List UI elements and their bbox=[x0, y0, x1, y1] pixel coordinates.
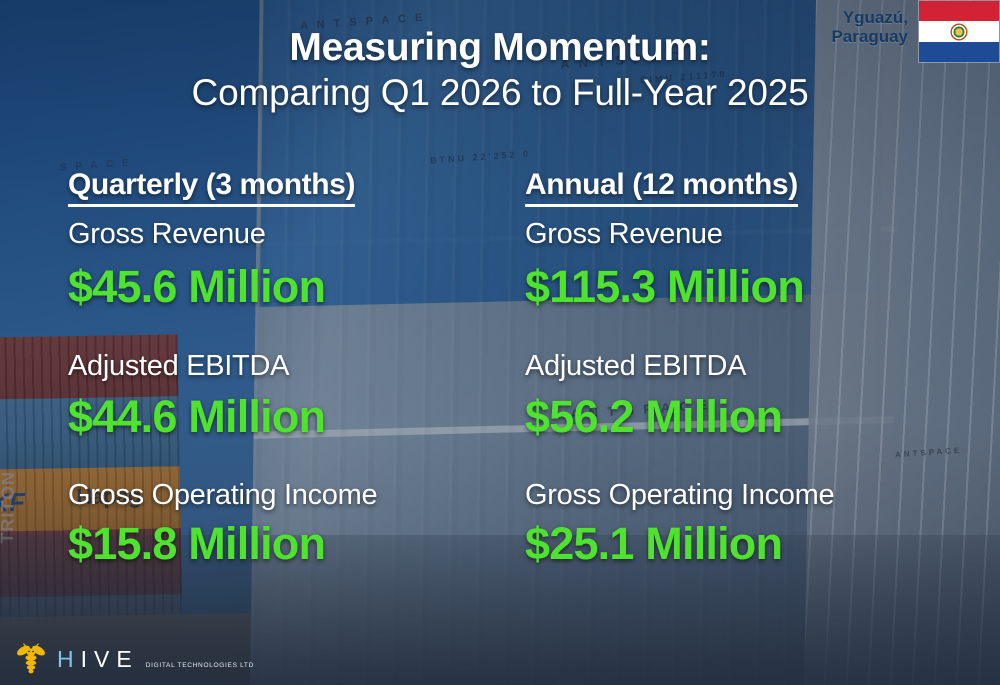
hive-tagline: DIGITAL TECHNOLOGIES LTD bbox=[146, 662, 254, 669]
location-country: Paraguay bbox=[831, 27, 908, 46]
bee-icon bbox=[14, 643, 48, 675]
metric-label-gross-revenue-a: Gross Revenue bbox=[525, 219, 975, 251]
column-heading-annual: Annual (12 months) bbox=[525, 168, 798, 207]
page-subtitle: Comparing Q1 2026 to Full-Year 2025 bbox=[0, 74, 1000, 112]
metric-value-gross-revenue-q: $45.6 Million bbox=[68, 263, 498, 312]
metric-label-adjusted-ebitda-a: Adjusted EBITDA bbox=[525, 351, 975, 383]
metric-label-gross-operating-income-a: Gross Operating Income bbox=[525, 480, 975, 512]
hive-logo: HIVE DIGITAL TECHNOLOGIES LTD bbox=[14, 643, 254, 675]
slide-root: KF Hapag TRITON A N T S P A C E A N T S … bbox=[0, 0, 1000, 685]
slide-content: Measuring Momentum: Comparing Q1 2026 to… bbox=[0, 0, 1000, 685]
metric-value-adjusted-ebitda-q: $44.6 Million bbox=[68, 393, 498, 442]
hive-letter-h: H bbox=[57, 646, 81, 672]
location-label: Yguazú, Paraguay bbox=[831, 8, 908, 46]
flag-band-red bbox=[919, 1, 999, 21]
metric-label-adjusted-ebitda-q: Adjusted EBITDA bbox=[68, 351, 498, 383]
metric-label-gross-operating-income-q: Gross Operating Income bbox=[68, 480, 498, 512]
paraguay-flag-icon bbox=[918, 0, 1000, 63]
location-city: Yguazú, bbox=[831, 8, 908, 27]
column-heading-quarterly: Quarterly (3 months) bbox=[68, 168, 355, 207]
flag-band-blue bbox=[919, 42, 999, 62]
metric-value-adjusted-ebitda-a: $56.2 Million bbox=[525, 393, 975, 442]
metric-value-gross-operating-income-q: $15.8 Million bbox=[68, 520, 498, 569]
flag-emblem-icon bbox=[951, 23, 968, 40]
column-annual: Annual (12 months) Gross Revenue $115.3 … bbox=[525, 168, 975, 568]
metric-value-gross-operating-income-a: $25.1 Million bbox=[525, 520, 975, 569]
hive-letters-ive: IVE bbox=[81, 646, 139, 672]
column-quarterly: Quarterly (3 months) Gross Revenue $45.6… bbox=[68, 168, 498, 568]
metric-label-gross-revenue-q: Gross Revenue bbox=[68, 219, 498, 251]
hive-wordmark: HIVE DIGITAL TECHNOLOGIES LTD bbox=[57, 648, 254, 671]
metric-value-gross-revenue-a: $115.3 Million bbox=[525, 263, 975, 312]
hive-word: HIVE bbox=[57, 648, 139, 671]
